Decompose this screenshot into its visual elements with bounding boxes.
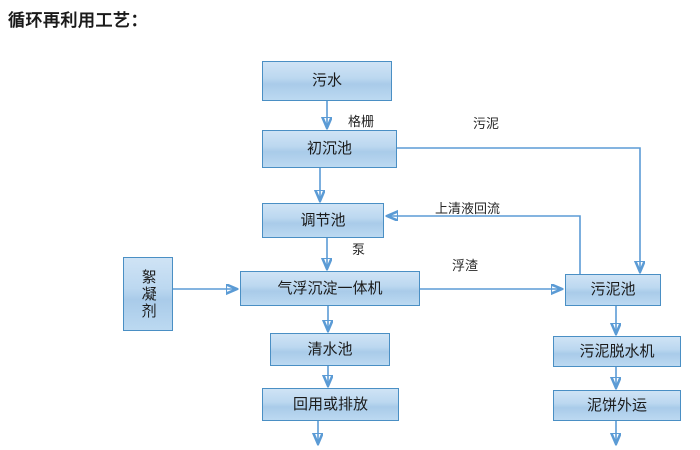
node-air-flotation-sedimentation-machine[interactable]: 气浮沉淀一体机 — [240, 271, 420, 306]
node-sludge-dewatering-machine-label: 污泥脱水机 — [579, 343, 654, 360]
node-wastewater-label: 污水 — [312, 72, 342, 89]
edge-label-supernatant-reflux: 上清液回流 — [435, 198, 500, 217]
node-air-flotation-sedimentation-machine-label: 气浮沉淀一体机 — [277, 280, 382, 297]
node-sludge-pool-label: 污泥池 — [590, 281, 635, 298]
node-mud-cake-transport[interactable]: 泥饼外运 — [553, 390, 681, 421]
node-primary-sedimentation-tank[interactable]: 初沉池 — [262, 130, 397, 168]
node-clear-water-tank[interactable]: 清水池 — [270, 333, 390, 366]
edge-label-pump: 泵 — [352, 239, 365, 258]
node-sludge-pool[interactable]: 污泥池 — [565, 274, 661, 306]
node-sludge-dewatering-machine[interactable]: 污泥脱水机 — [553, 336, 681, 367]
node-regulating-tank-label: 调节池 — [300, 212, 345, 229]
edge-label-sludge: 污泥 — [473, 113, 499, 132]
node-wastewater[interactable]: 污水 — [262, 61, 392, 101]
page-title: 循环再利用工艺： — [8, 6, 148, 31]
node-regulating-tank[interactable]: 调节池 — [262, 203, 384, 238]
node-clear-water-tank-label: 清水池 — [307, 341, 352, 358]
edge-sludge-pool-to-regulating — [388, 216, 580, 274]
node-mud-cake-transport-label: 泥饼外运 — [587, 397, 647, 414]
flowchart-canvas: 循环再利用工艺： — [0, 0, 700, 450]
node-flocculant[interactable]: 絮凝剂 — [123, 257, 173, 331]
edge-label-grille: 格栅 — [348, 111, 374, 130]
node-flocculant-label: 絮凝剂 — [139, 269, 156, 320]
edge-primary-to-sludge-pool — [397, 148, 640, 271]
node-reuse-or-discharge-label: 回用或排放 — [293, 396, 368, 413]
node-primary-sedimentation-tank-label: 初沉池 — [307, 140, 352, 157]
node-reuse-or-discharge[interactable]: 回用或排放 — [262, 388, 399, 421]
edge-label-scum: 浮渣 — [452, 255, 478, 274]
